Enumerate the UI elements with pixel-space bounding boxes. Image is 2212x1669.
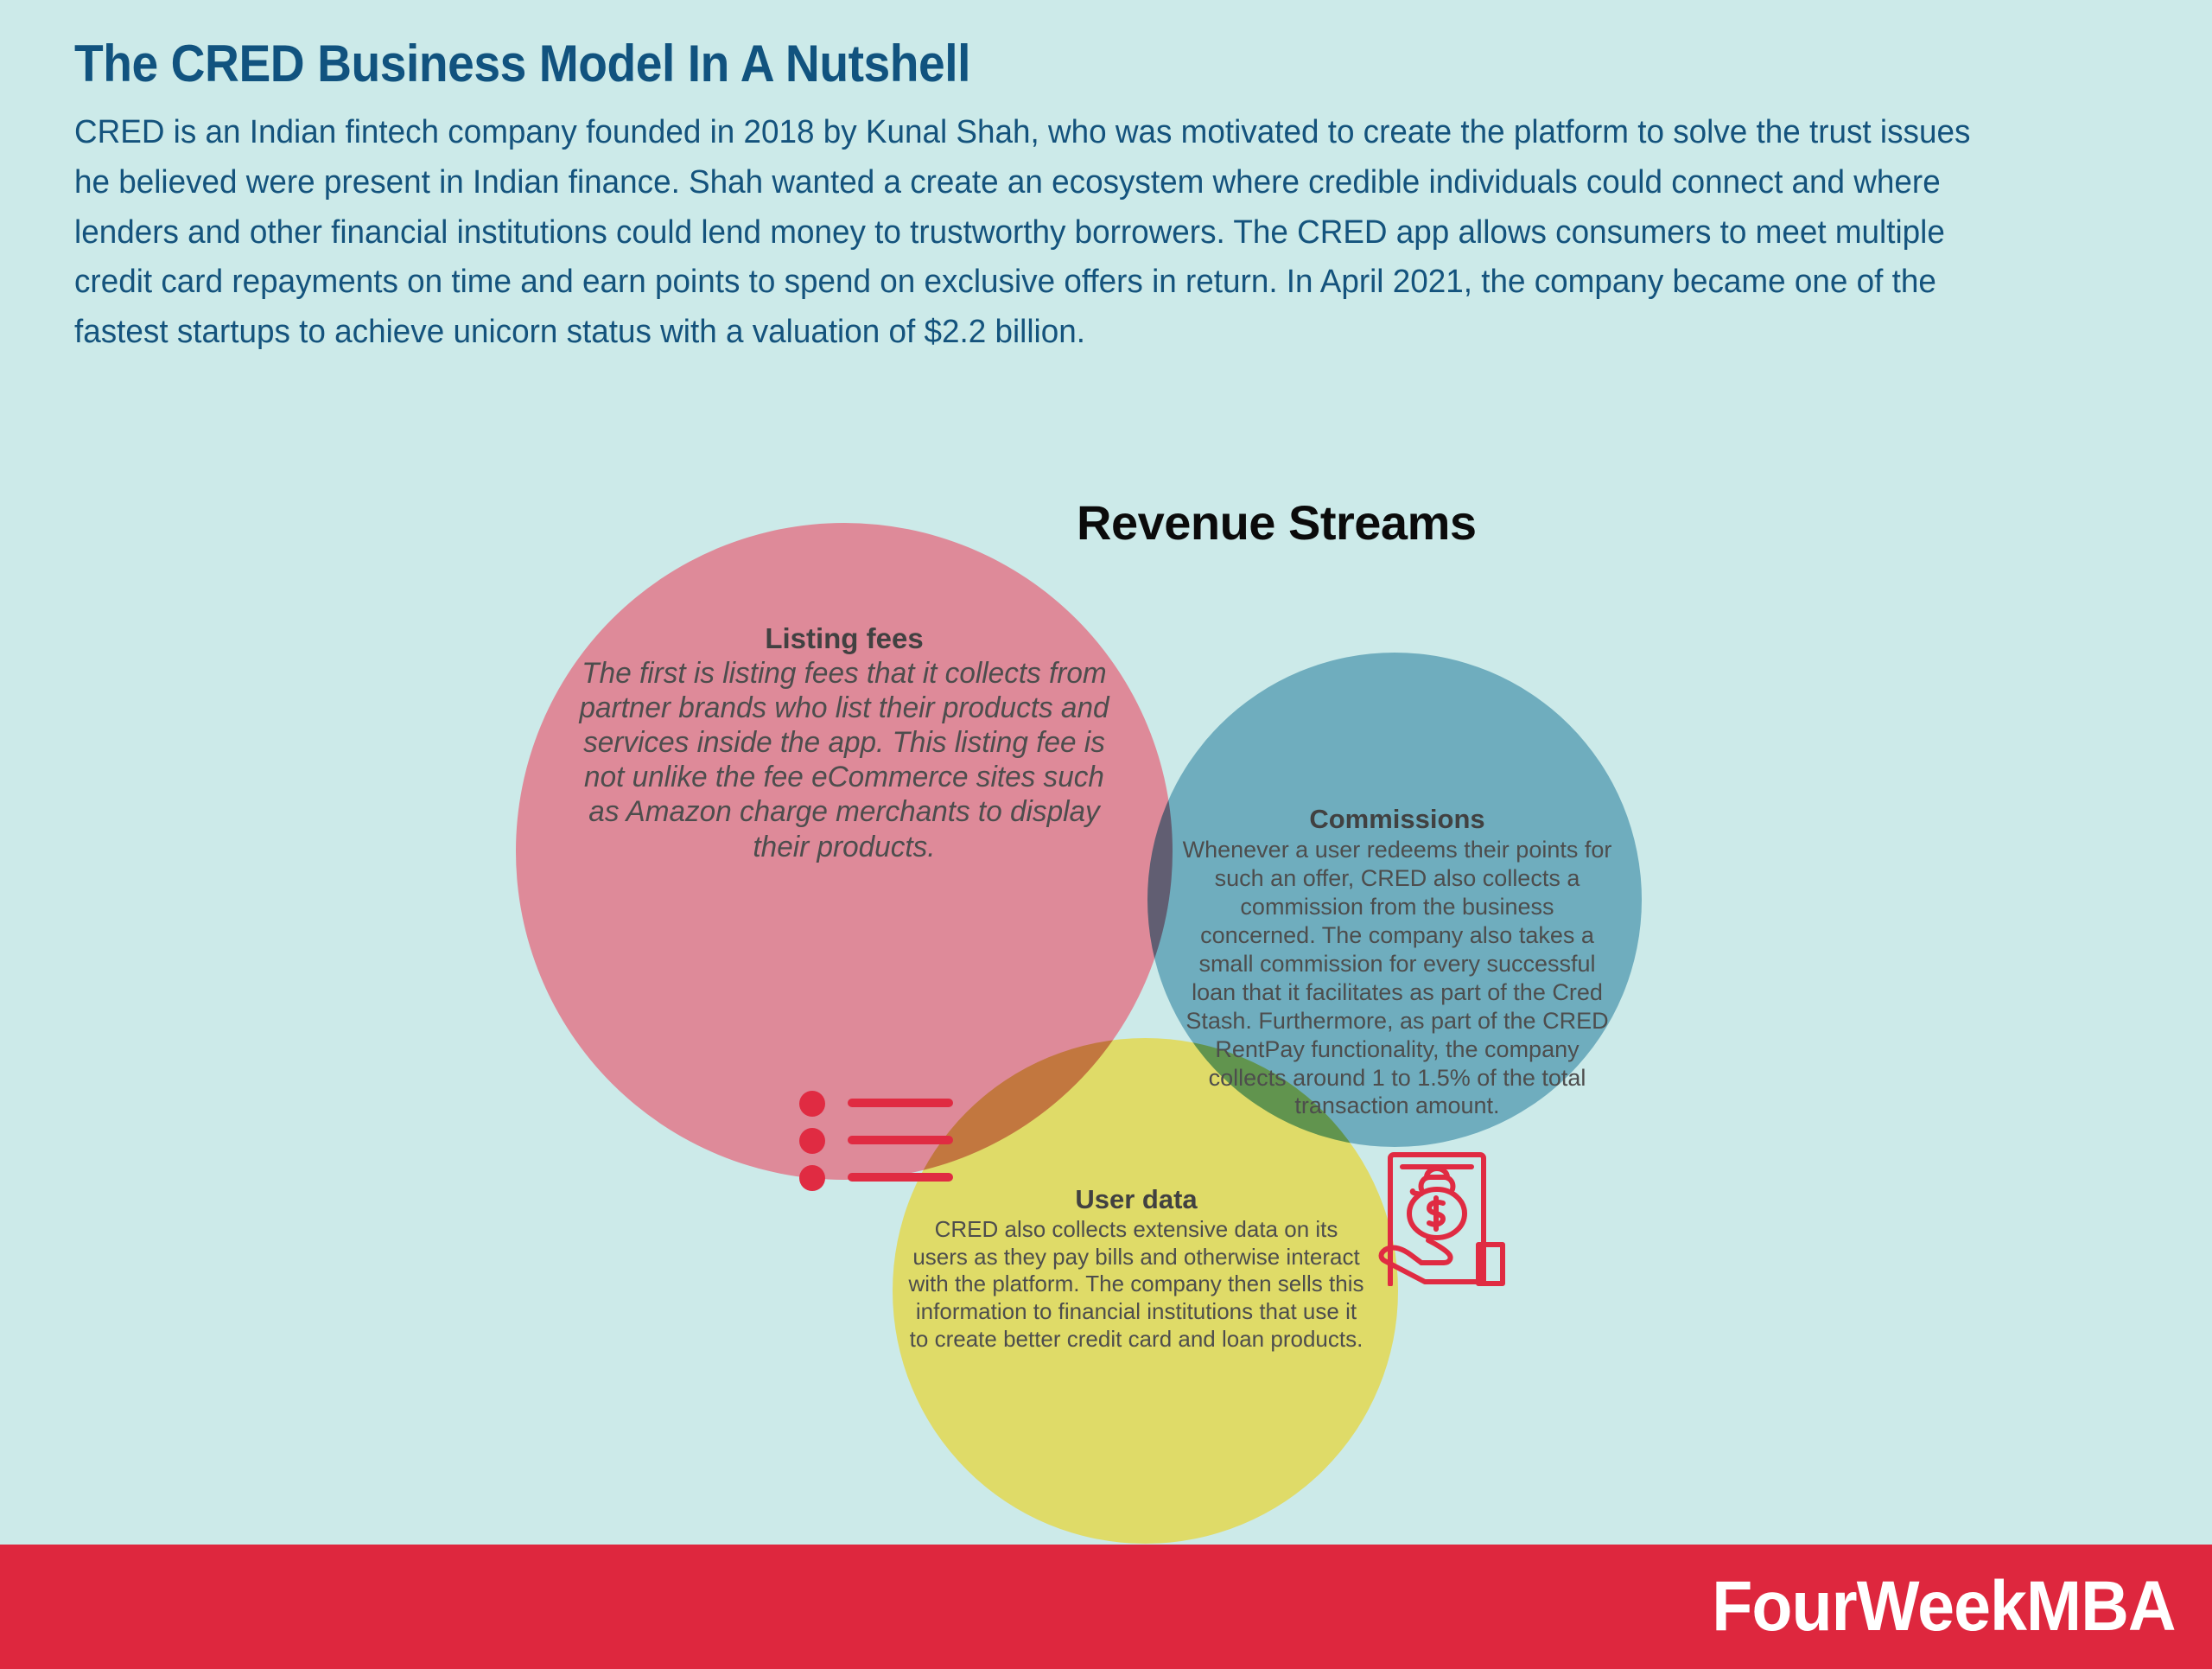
user-data-title: User data	[907, 1184, 1365, 1215]
venn-cell-listing-fees: Listing fees The first is listing fees t…	[568, 622, 1121, 864]
header: The CRED Business Model In A Nutshell CR…	[74, 35, 2088, 358]
listing-fees-title: Listing fees	[568, 622, 1121, 655]
fourweekmba-logo: FourWeekMBA	[1713, 1566, 2176, 1647]
page-title: The CRED Business Model In A Nutshell	[74, 35, 1927, 92]
infographic-page: The CRED Business Model In A Nutshell CR…	[0, 0, 2212, 1669]
venn-diagram: Listing fees The first is listing fees t…	[0, 484, 2212, 1556]
venn-cell-commissions: Commissions Whenever a user redeems thei…	[1181, 804, 1613, 1120]
commissions-body: Whenever a user redeems their points for…	[1181, 836, 1613, 1120]
user-data-body: CRED also collects extensive data on its…	[907, 1216, 1365, 1354]
bulleted-list-icon	[798, 1089, 962, 1193]
footer-bar: FourWeekMBA	[0, 1545, 2212, 1669]
commissions-title: Commissions	[1181, 804, 1613, 835]
hand-holding-money-bag-icon	[1368, 1148, 1506, 1286]
venn-cell-user-data: User data CRED also collects extensive d…	[907, 1184, 1365, 1354]
listing-fees-body: The first is listing fees that it collec…	[573, 656, 1115, 864]
intro-paragraph: CRED is an Indian fintech company founde…	[74, 108, 2002, 358]
